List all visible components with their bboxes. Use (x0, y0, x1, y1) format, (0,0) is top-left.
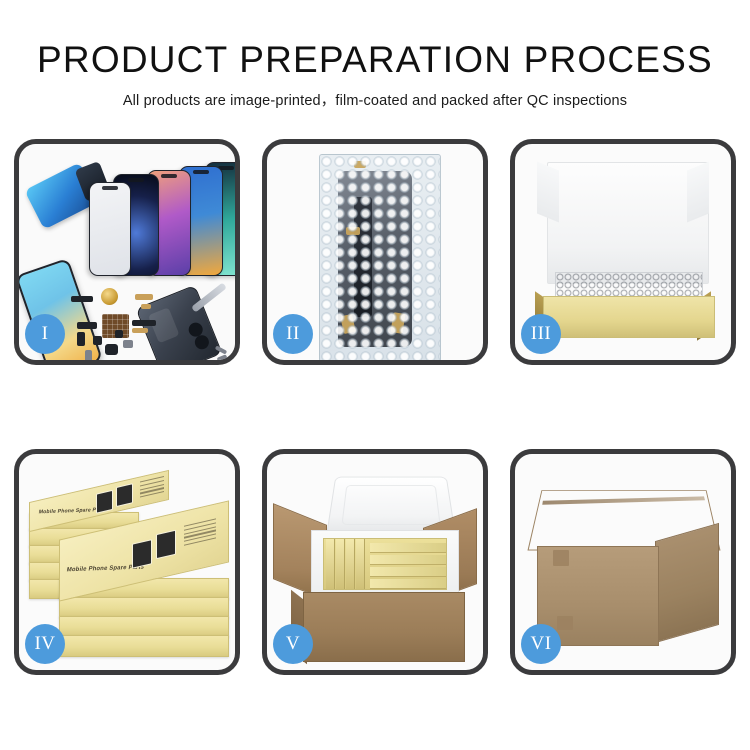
page-subtitle: All products are image-printed，film-coat… (0, 89, 750, 110)
box-label-phone-image (96, 490, 113, 514)
retail-box-edge (59, 616, 229, 637)
copper-coil-icon (101, 288, 118, 305)
step-badge-3: III (521, 314, 561, 354)
speaker-part-icon (105, 344, 118, 355)
page-title: PRODUCT PREPARATION PROCESS (0, 38, 750, 82)
sim-tray-icon (85, 350, 92, 360)
flex-cable-part-icon (71, 296, 93, 302)
bracket-part-icon (77, 332, 85, 346)
phone-screen-fan (89, 166, 235, 276)
panel-step-6[interactable]: VI (510, 449, 736, 675)
process-panel-grid: I II (14, 139, 736, 675)
step-badge-5: V (273, 624, 313, 664)
connector-part-icon (141, 304, 151, 309)
bubble-texture (320, 155, 440, 360)
retail-box-edge (59, 597, 229, 618)
flex-cable-part-icon (77, 322, 97, 329)
panel-step-1[interactable]: I (14, 139, 240, 365)
camera-module-icon (123, 340, 133, 348)
notch-icon (128, 178, 144, 182)
step-badge-1: I (25, 314, 65, 354)
ic-chip-icon (115, 330, 123, 338)
carton-side-icon (655, 523, 719, 643)
packed-yellow-boxes-icon (323, 538, 447, 590)
connector-part-icon (135, 294, 153, 300)
step-badge-4: IV (25, 624, 65, 664)
box-label-phone-image (156, 530, 176, 560)
box-lid-flap-right-icon (687, 162, 709, 223)
tape-patch-icon (557, 616, 573, 630)
panel-step-2[interactable]: II (262, 139, 488, 365)
box-lid-flap-left-icon (537, 162, 559, 223)
infographic-page: PRODUCT PREPARATION PROCESS All products… (0, 0, 750, 750)
kraft-box-tray-icon (543, 296, 715, 338)
notch-icon (193, 170, 209, 174)
box-label-lines (140, 476, 164, 500)
bubble-wrap-bag-icon (319, 154, 441, 360)
box-lid-icon (547, 162, 709, 284)
step-badge-6: VI (521, 624, 561, 664)
carton-body-icon (303, 592, 465, 662)
panel-step-4[interactable]: Mobile Phone Spare Parts Mobile (14, 449, 240, 675)
box-label-lines (184, 518, 216, 548)
tape-patch-icon (553, 550, 569, 566)
connector-part-icon (132, 328, 148, 333)
notch-icon (161, 174, 177, 178)
notch-icon (102, 186, 118, 190)
button-part-icon (93, 336, 102, 345)
box-label-phone-image (132, 539, 152, 569)
panel-step-3[interactable]: III (510, 139, 736, 365)
glass-panel-icon (89, 182, 131, 276)
header: PRODUCT PREPARATION PROCESS All products… (0, 38, 750, 110)
flex-cable-part-icon (132, 320, 156, 326)
box-label-phone-image (116, 483, 133, 507)
panel-step-5[interactable]: V (262, 449, 488, 675)
retail-box-edge (59, 635, 229, 657)
step-badge-2: II (273, 314, 313, 354)
